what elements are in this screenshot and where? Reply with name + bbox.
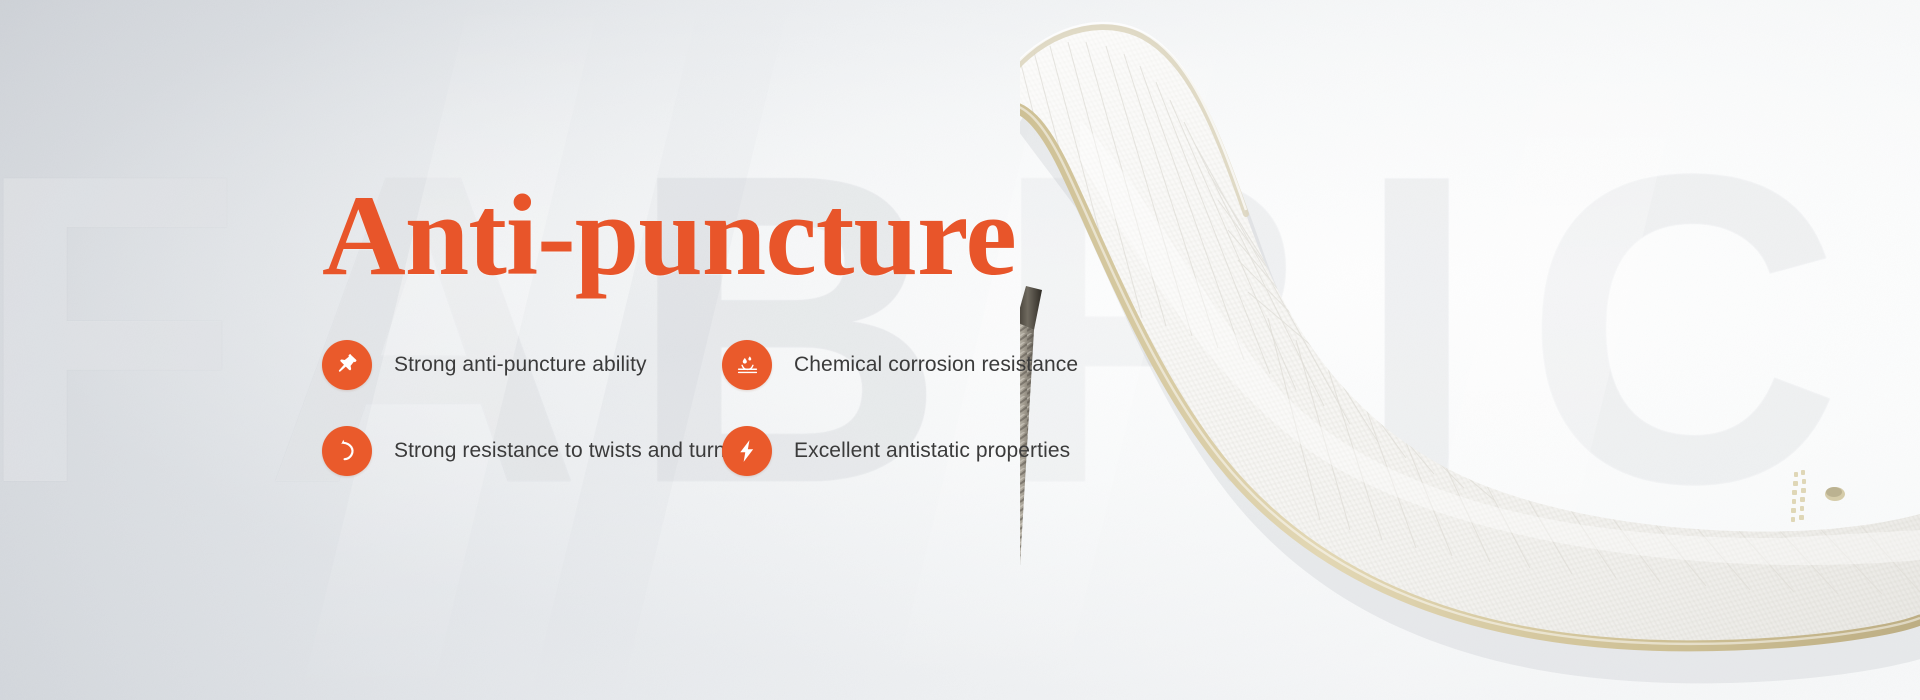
product-feature-banner: FABRIC FABRIC — [0, 0, 1920, 700]
page-title: Anti-puncture — [322, 178, 1222, 294]
banner-content: Anti-puncture Strong anti-puncture abili… — [322, 178, 1222, 478]
feature-list: Strong anti-puncture ability — [322, 338, 1222, 478]
feature-item-anti-puncture[interactable]: Strong anti-puncture ability — [322, 338, 722, 392]
feature-item-chemical-corrosion[interactable]: Chemical corrosion resistance — [722, 338, 1122, 392]
droplet-surface-icon — [722, 340, 772, 390]
feature-label: Chemical corrosion resistance — [794, 353, 1078, 377]
feature-label: Strong resistance to twists and turns — [394, 439, 736, 463]
lightning-bolt-icon — [722, 426, 772, 476]
feature-item-antistatic[interactable]: Excellent antistatic properties — [722, 424, 1122, 478]
feature-label: Strong anti-puncture ability — [394, 353, 647, 377]
fabric-marking — [1791, 470, 1845, 522]
feature-label: Excellent antistatic properties — [794, 439, 1070, 463]
pushpin-icon — [322, 340, 372, 390]
rotate-arc-icon — [322, 426, 372, 476]
feature-item-twist-resistance[interactable]: Strong resistance to twists and turns — [322, 424, 722, 478]
